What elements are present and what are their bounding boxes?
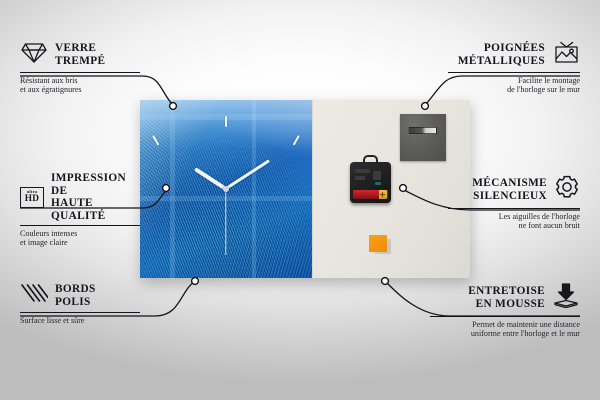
clock-center-cap bbox=[223, 186, 229, 192]
clock-hand-hour bbox=[194, 167, 227, 191]
callout-entretoise-en-mousse[interactable]: ENTRETOISE EN MOUSSE Permet de maintenir… bbox=[430, 282, 580, 339]
callout-description: Les aiguilles de l'horloge ne font aucun… bbox=[448, 209, 580, 231]
diamond-icon bbox=[20, 40, 48, 69]
callout-title: BORDS POLIS bbox=[55, 283, 96, 308]
ultra-hd-icon: ultra HD bbox=[20, 187, 44, 208]
callout-description: Permet de maintenir une distance uniform… bbox=[430, 317, 580, 339]
hanger-slot bbox=[408, 127, 437, 134]
clock-face-front bbox=[140, 100, 312, 278]
print-grid-band bbox=[170, 100, 175, 278]
foam-spacer-icon bbox=[552, 282, 580, 313]
callout-description: Surface lisse et sûre bbox=[20, 313, 140, 326]
callout-poignees-metalliques[interactable]: POIGNÉES MÉTALLIQUES Facilite le montage… bbox=[448, 40, 580, 95]
mechanism-detail bbox=[373, 171, 381, 180]
mechanism-detail bbox=[355, 169, 370, 173]
callout-verre-trempe[interactable]: VERRE TREMPÉ Résistant aux bris et aux é… bbox=[20, 40, 140, 95]
print-grid-band bbox=[140, 114, 312, 120]
callout-mecanisme-silencieux[interactable]: MÉCANISME SILENCIEUX Les aiguilles de l'… bbox=[448, 174, 580, 231]
callout-impression-haute-qualite[interactable]: ultra HD IMPRESSION DE HAUTE QUALITÉ Cou… bbox=[20, 172, 140, 248]
battery bbox=[353, 190, 387, 199]
callout-bords-polis[interactable]: BORDS POLIS Surface lisse et sûre bbox=[20, 282, 140, 325]
mechanism-detail bbox=[355, 176, 365, 180]
callout-description: Facilite le montage de l'horloge sur le … bbox=[448, 73, 580, 95]
callout-description: Couleurs intenses et image claire bbox=[20, 226, 140, 248]
callout-description: Résistant aux bris et aux égratignures bbox=[20, 73, 140, 95]
clock-mechanism bbox=[350, 162, 391, 203]
callout-title: ENTRETOISE EN MOUSSE bbox=[468, 285, 545, 310]
foam-spacer-pad bbox=[369, 235, 387, 252]
mechanism-detail bbox=[375, 182, 382, 185]
print-grid-band bbox=[252, 100, 256, 278]
callout-title: MÉCANISME SILENCIEUX bbox=[472, 177, 547, 202]
connector-endpoint-bords-polis bbox=[192, 278, 199, 285]
connector-endpoint-entretoise bbox=[382, 278, 389, 285]
gear-icon bbox=[554, 174, 580, 205]
product-image bbox=[140, 100, 470, 278]
clock-hand-second bbox=[225, 189, 226, 255]
mechanism-hook bbox=[363, 155, 378, 164]
callout-title: POIGNÉES MÉTALLIQUES bbox=[458, 42, 545, 67]
picture-hanger-icon bbox=[552, 40, 580, 69]
polished-edges-icon bbox=[20, 282, 48, 309]
callout-title: IMPRESSION DE HAUTE QUALITÉ bbox=[51, 172, 140, 222]
ultra-hd-icon-large-text: HD bbox=[25, 195, 40, 204]
infographic-canvas: VERRE TREMPÉ Résistant aux bris et aux é… bbox=[0, 0, 600, 400]
clock-hand-minute bbox=[225, 159, 270, 190]
hanger-plate bbox=[400, 114, 446, 161]
callout-title: VERRE TREMPÉ bbox=[55, 42, 105, 67]
battery-positive-terminal bbox=[379, 190, 387, 199]
clock-back-panel bbox=[312, 100, 470, 278]
